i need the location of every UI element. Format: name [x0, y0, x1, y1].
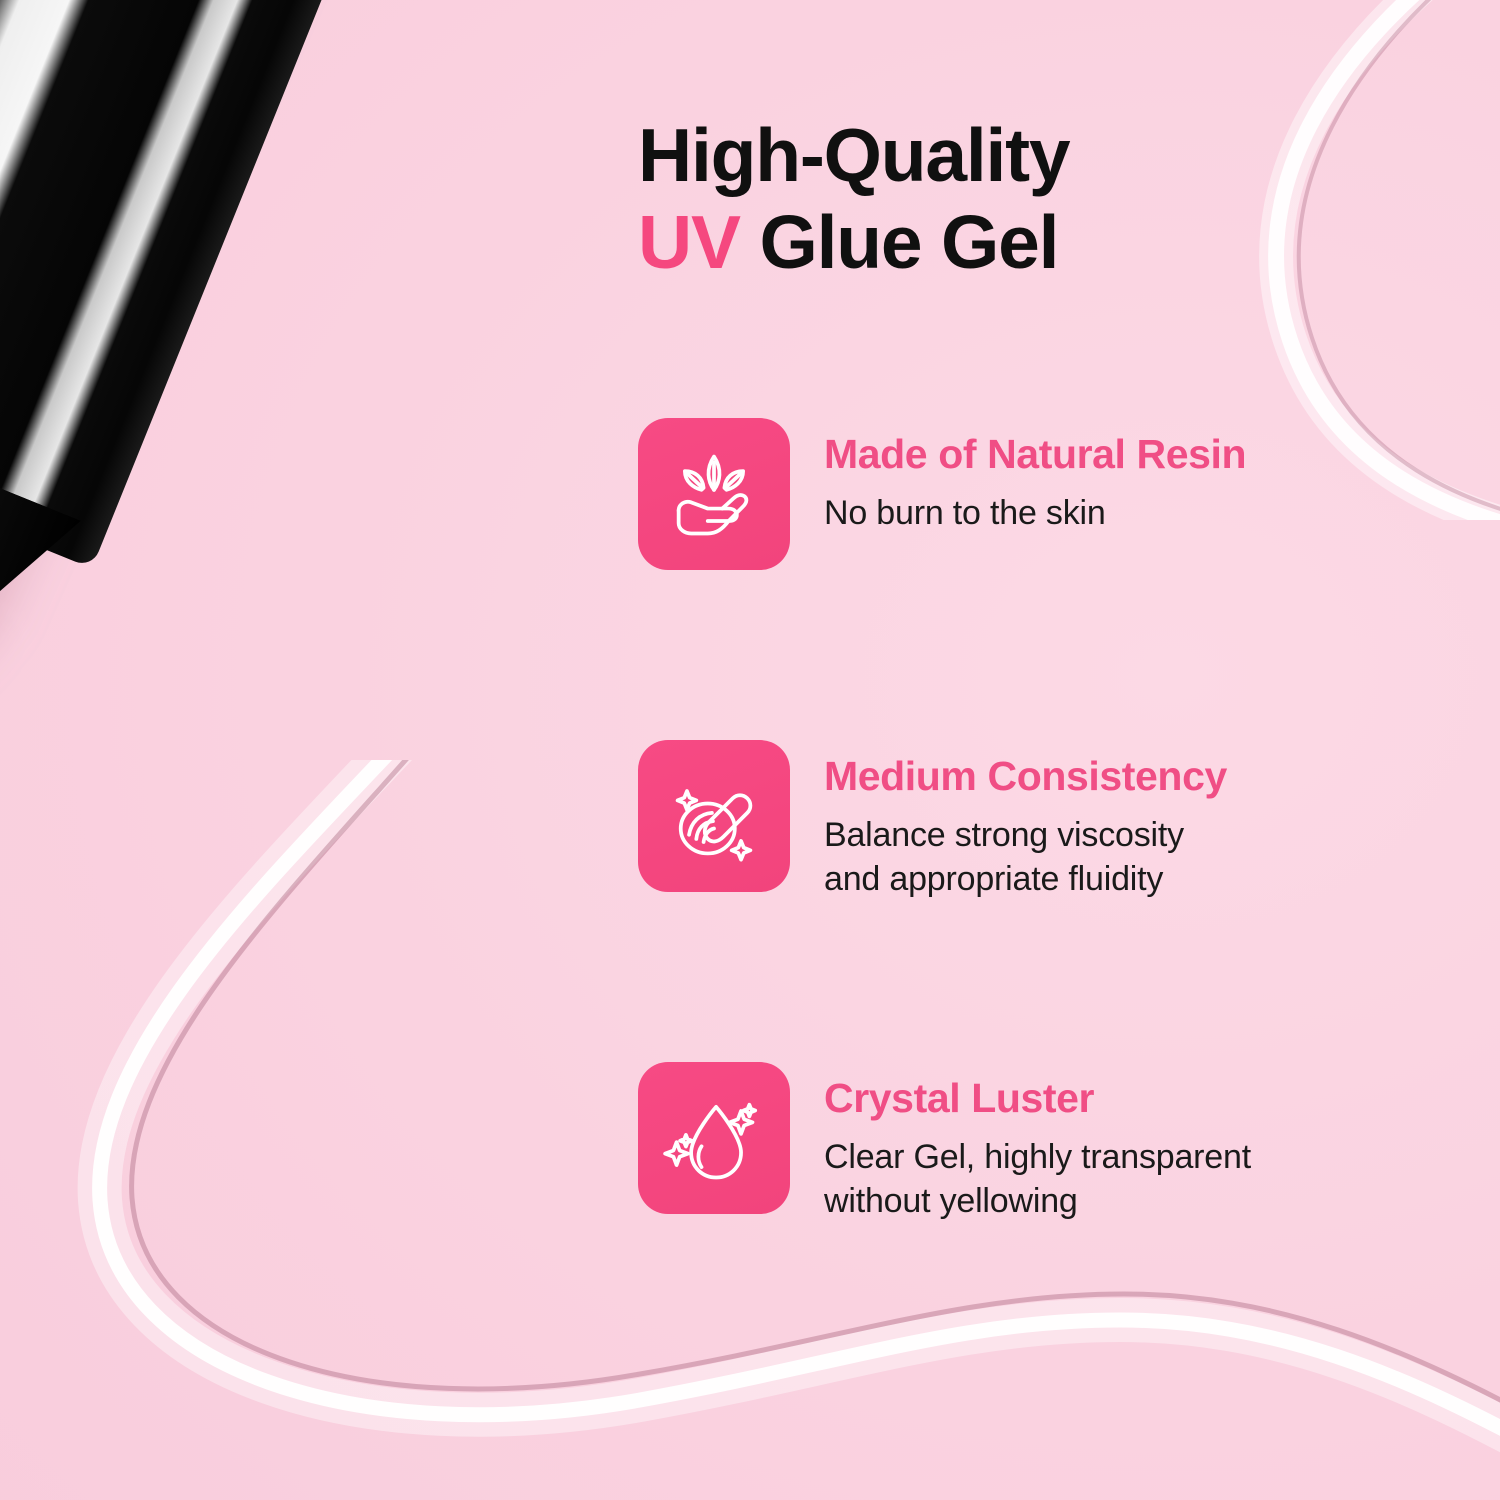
headline-line-2: UV Glue Gel [638, 199, 1258, 286]
feature-description-line: without yellowing [824, 1179, 1251, 1223]
feature-title: Crystal Luster [824, 1076, 1251, 1121]
feature-icon-tile [638, 1062, 790, 1214]
feature-item: Medium Consistency Balance strong viscos… [638, 740, 1378, 901]
feature-title: Medium Consistency [824, 754, 1227, 799]
feature-description: Balance strong viscosity and appropriate… [824, 813, 1227, 901]
feature-description-line: and appropriate fluidity [824, 857, 1227, 901]
feature-item: Made of Natural Resin No burn to the ski… [638, 418, 1378, 570]
feature-description-line: Balance strong viscosity [824, 813, 1227, 857]
page-title: High-Quality UV Glue Gel [638, 112, 1258, 286]
headline-accent-uv: UV [638, 200, 740, 284]
feature-description-line: No burn to the skin [824, 491, 1246, 535]
feature-description-line: Clear Gel, highly transparent [824, 1135, 1251, 1179]
feature-icon-tile [638, 418, 790, 570]
product-infographic: Net Wt. 0.53 oz / 15 g High-Quality UV G… [0, 0, 1500, 1500]
feature-description: No burn to the skin [824, 491, 1246, 535]
headline-line-2-rest: Glue Gel [759, 200, 1058, 284]
feature-text: Medium Consistency Balance strong viscos… [824, 740, 1227, 901]
mortar-pestle-sparkle-icon [662, 764, 766, 868]
feature-title: Made of Natural Resin [824, 432, 1246, 477]
content-column: High-Quality UV Glue Gel [630, 0, 1500, 1500]
droplet-sparkle-icon [662, 1086, 766, 1190]
feature-icon-tile [638, 740, 790, 892]
black-glue-tube: Net Wt. 0.53 oz / 15 g [0, 0, 616, 925]
feature-text: Made of Natural Resin No burn to the ski… [824, 418, 1246, 535]
tube-body: Net Wt. 0.53 oz / 15 g [0, 0, 422, 568]
feature-description: Clear Gel, highly transparent without ye… [824, 1135, 1251, 1223]
feature-text: Crystal Luster Clear Gel, highly transpa… [824, 1062, 1251, 1223]
feature-item: Crystal Luster Clear Gel, highly transpa… [638, 1062, 1378, 1223]
headline-line-1: High-Quality [638, 112, 1258, 199]
hand-holding-leaves-icon [662, 442, 766, 546]
